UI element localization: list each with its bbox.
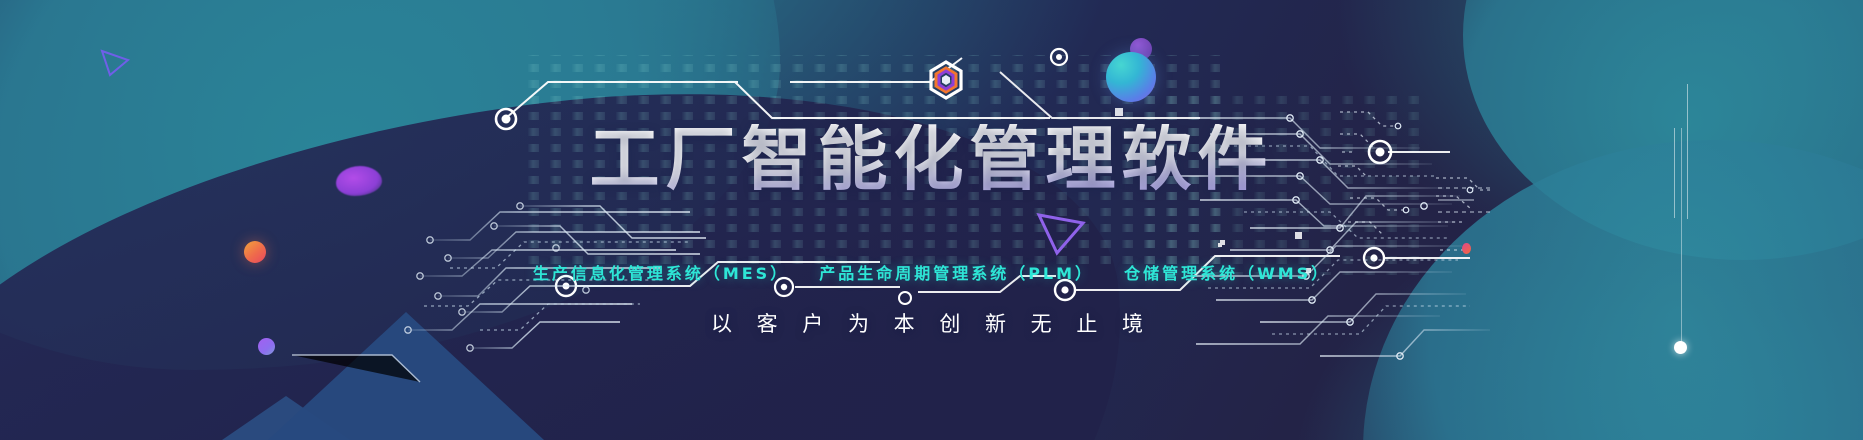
page-title: 工厂智能化管理软件 xyxy=(590,124,1274,194)
tagline: 以 客 户 为 本 创 新 无 止 境 xyxy=(711,308,1152,338)
subsystem-item-wms: 仓储管理系统（WMS） xyxy=(1124,260,1330,284)
banner-content: 工厂智能化管理软件 生产信息化管理系统（MES） 产品生命周期管理系统（PLM）… xyxy=(0,0,1863,440)
factory-software-banner: 工厂智能化管理软件 生产信息化管理系统（MES） 产品生命周期管理系统（PLM）… xyxy=(0,0,1863,440)
subsystem-item-mes: 生产信息化管理系统（MES） xyxy=(533,260,789,284)
subsystem-list: 生产信息化管理系统（MES） 产品生命周期管理系统（PLM） 仓储管理系统（WM… xyxy=(533,260,1330,284)
subsystem-item-plm: 产品生命周期管理系统（PLM） xyxy=(819,260,1094,284)
